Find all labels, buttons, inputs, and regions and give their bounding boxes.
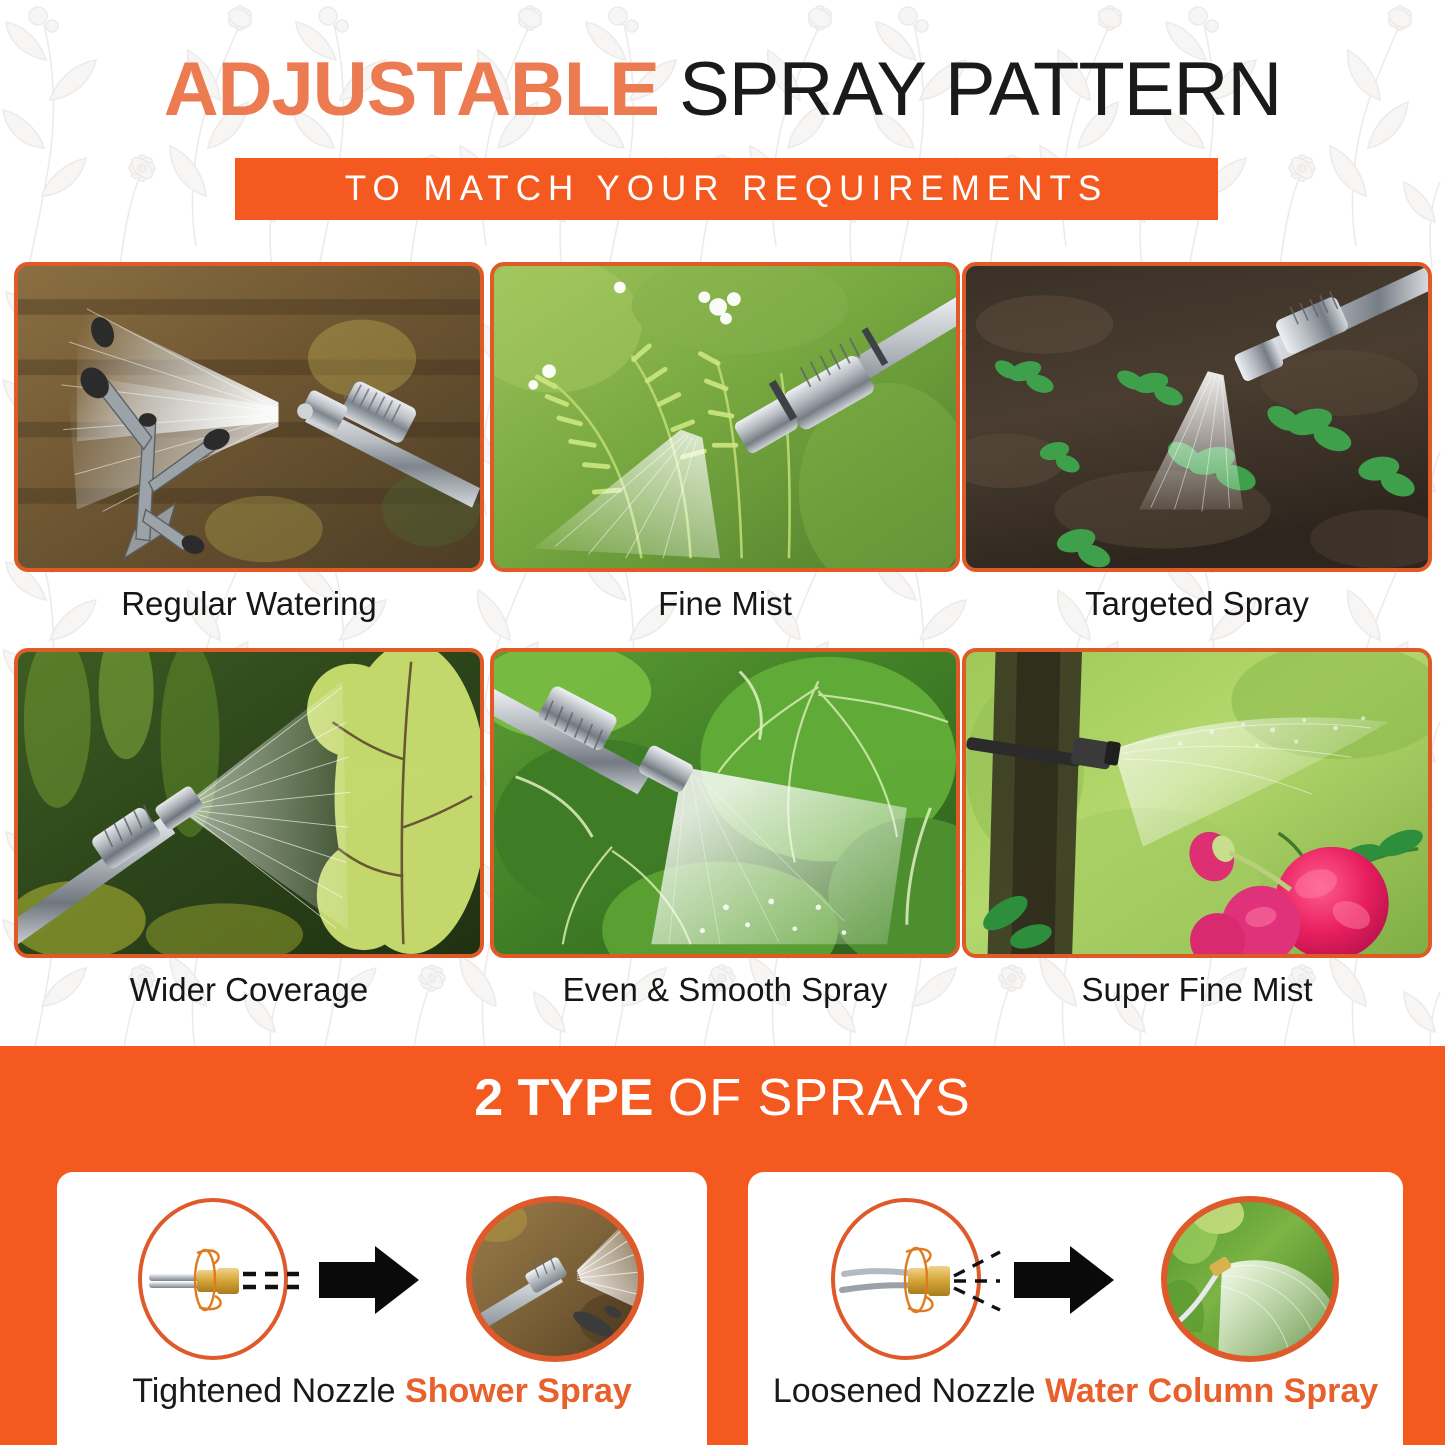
subtitle-band: TO MATCH YOUR REQUIREMENTS	[235, 158, 1218, 220]
targeted-spray-photo	[962, 262, 1432, 572]
spray-pattern-caption: Targeted Spray	[962, 587, 1432, 620]
spray-pattern-caption: Super Fine Mist	[962, 973, 1432, 1006]
spray-pattern-section: ADJUSTABLE SPRAY PATTERN TO MATCH YOUR R…	[0, 0, 1445, 1046]
spray-types-title-bold: 2 TYPE	[474, 1069, 653, 1127]
spray-pattern-cell: Fine Mist	[490, 262, 960, 572]
loosened-nozzle-caption: Loosened Nozzle Water Column Spray	[748, 1374, 1403, 1408]
shower-spray-label: Shower Spray	[405, 1372, 632, 1410]
spray-pattern-row-1: Regular Watering	[0, 262, 1445, 572]
page-title-rest: SPRAY PATTERN	[679, 47, 1281, 132]
loosened-nozzle-label: Loosened Nozzle	[773, 1372, 1036, 1410]
subtitle-text: TO MATCH YOUR REQUIREMENTS	[345, 169, 1108, 209]
spray-pattern-cell: Wider Coverage	[14, 648, 484, 958]
spray-pattern-caption: Regular Watering	[14, 587, 484, 620]
spray-pattern-cell: Regular Watering	[14, 262, 484, 572]
fine-mist-photo	[490, 262, 960, 572]
spray-types-title: 2 TYPE OF SPRAYS	[0, 1072, 1445, 1124]
spray-pattern-cell: Targeted Spray	[962, 262, 1432, 572]
spray-pattern-cell: Super Fine Mist	[962, 648, 1432, 958]
right-arrow-icon	[319, 1246, 419, 1314]
wider-coverage-photo	[14, 648, 484, 958]
spray-types-title-rest: OF SPRAYS	[668, 1069, 971, 1127]
tightened-nozzle-label: Tightened Nozzle	[132, 1372, 395, 1410]
spray-pattern-caption: Even & Smooth Spray	[490, 973, 960, 1006]
spray-pattern-caption: Wider Coverage	[14, 973, 484, 1006]
loosened-nozzle-diagram	[748, 1190, 1403, 1368]
regular-watering-photo	[14, 262, 484, 572]
page-title-highlight: ADJUSTABLE	[164, 47, 659, 132]
tightened-nozzle-caption: Tightened Nozzle Shower Spray	[57, 1374, 707, 1408]
super-fine-mist-photo	[962, 648, 1432, 958]
spray-types-section: 2 TYPE OF SPRAYS	[0, 1046, 1445, 1445]
spray-pattern-caption: Fine Mist	[490, 587, 960, 620]
spray-pattern-cell: Even & Smooth Spray	[490, 648, 960, 958]
loosened-nozzle-card: Loosened Nozzle Water Column Spray	[748, 1172, 1403, 1445]
tightened-nozzle-diagram	[57, 1190, 707, 1368]
page-title: ADJUSTABLE SPRAY PATTERN	[0, 52, 1445, 128]
spray-pattern-row-2: Wider Coverage	[0, 648, 1445, 958]
right-arrow-icon	[1014, 1246, 1114, 1314]
even-smooth-spray-photo	[490, 648, 960, 958]
water-column-spray-label: Water Column Spray	[1045, 1372, 1378, 1410]
tightened-nozzle-card: Tightened Nozzle Shower Spray	[57, 1172, 707, 1445]
